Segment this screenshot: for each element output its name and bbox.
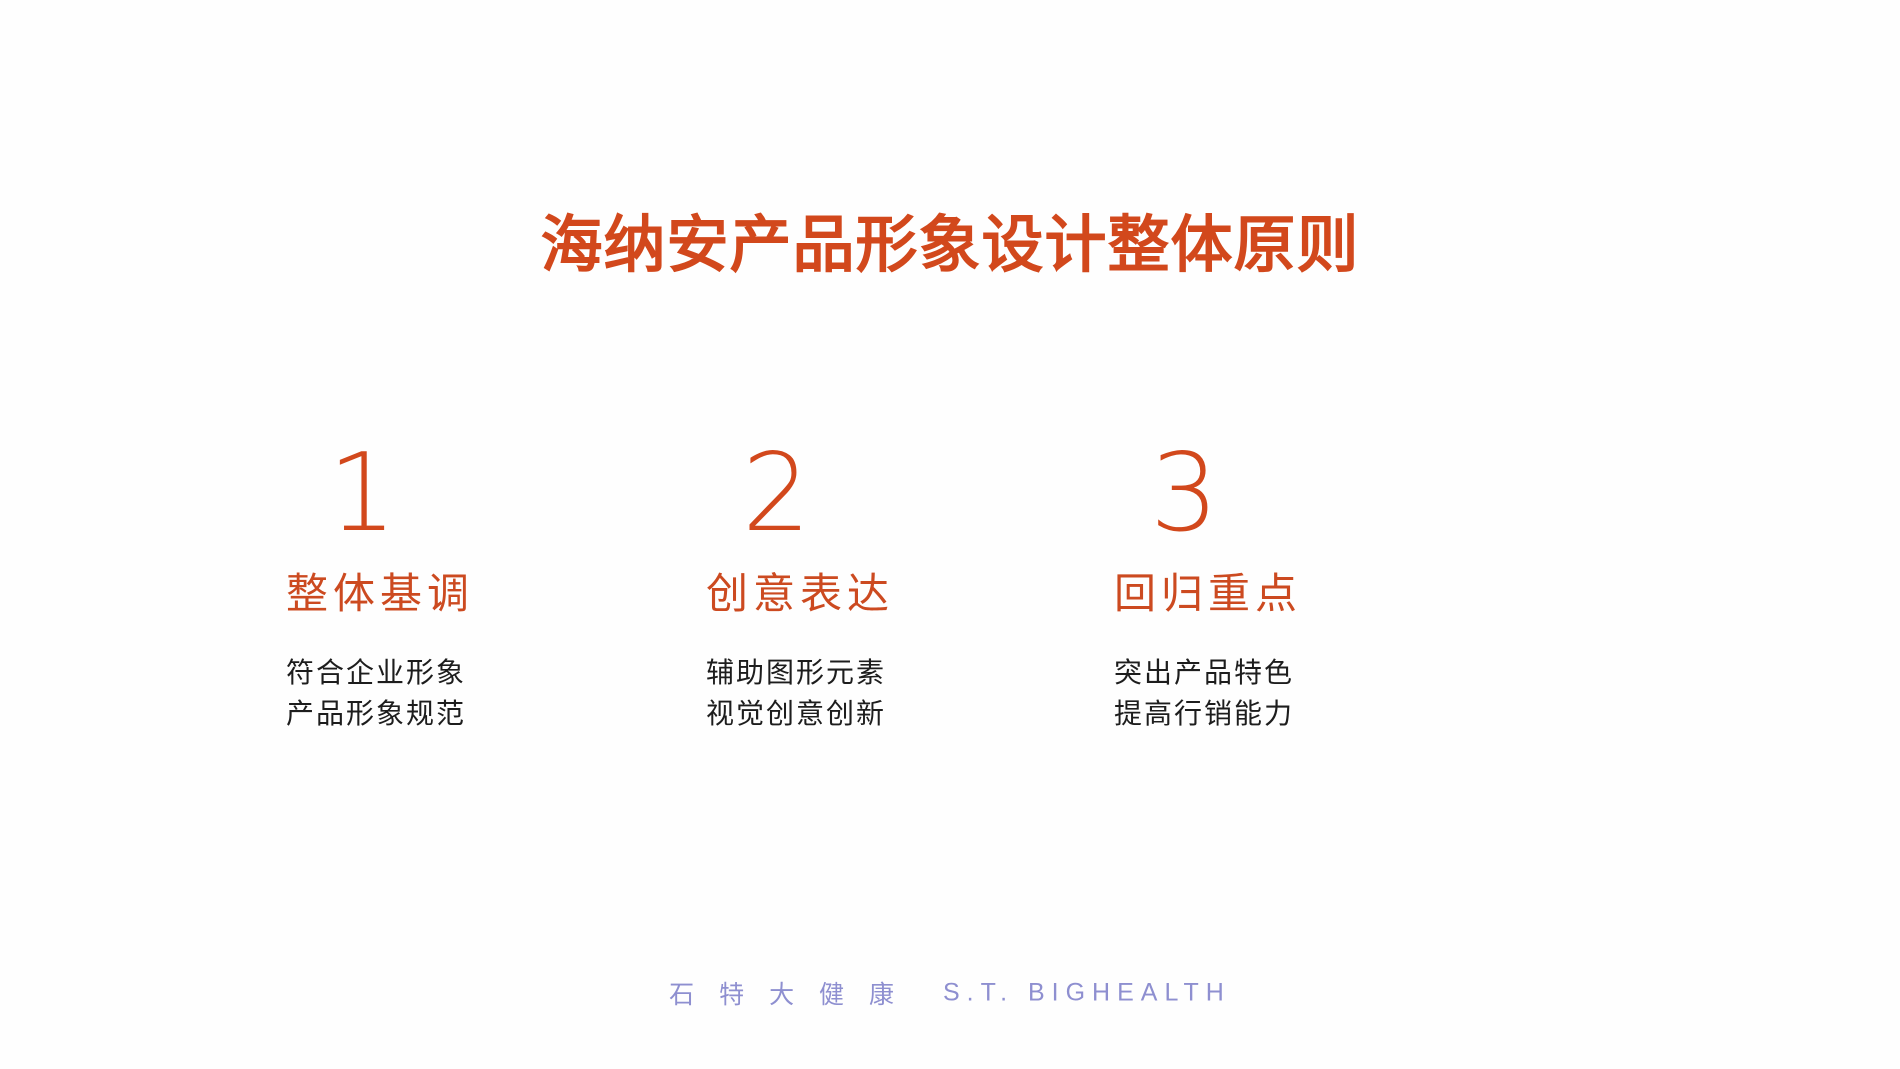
principle-number-2: 2 bbox=[742, 440, 894, 548]
principle-column-2: 2 创意表达 辅助图形元素 视觉创意创新 bbox=[660, 440, 1070, 736]
principle-number-1: 1 bbox=[328, 440, 474, 548]
principle-body-3-line-2: 提高行销能力 bbox=[1114, 695, 1302, 736]
footer-brand-english: S.T. BIGHEALTH bbox=[943, 979, 1231, 1007]
principle-column-2-inner: 2 创意表达 辅助图形元素 视觉创意创新 bbox=[660, 440, 894, 736]
principle-column-1: 1 整体基调 符合企业形象 产品形象规范 bbox=[250, 440, 660, 736]
footer-brand-chinese: 石 特 大 健 康 bbox=[669, 981, 903, 1009]
principle-column-3-inner: 3 回归重点 突出产品特色 提高行销能力 bbox=[1070, 440, 1302, 736]
principle-column-3: 3 回归重点 突出产品特色 提高行销能力 bbox=[1070, 440, 1480, 736]
principle-body-2-line-2: 视觉创意创新 bbox=[706, 695, 894, 736]
principle-body-3-line-1: 突出产品特色 bbox=[1114, 654, 1302, 695]
principle-body-1-line-2: 产品形象规范 bbox=[286, 695, 474, 736]
principle-heading-2: 创意表达 bbox=[706, 570, 894, 620]
slide-canvas: 海纳安产品形象设计整体原则 1 整体基调 符合企业形象 产品形象规范 2 创意表… bbox=[0, 0, 1900, 1069]
principle-body-1: 符合企业形象 产品形象规范 bbox=[286, 654, 474, 735]
footer-branding: 石 特 大 健 康 S.T. BIGHEALTH bbox=[0, 975, 1900, 1011]
page-title-container: 海纳安产品形象设计整体原则 bbox=[0, 212, 1900, 277]
principle-body-1-line-1: 符合企业形象 bbox=[286, 654, 474, 695]
principle-body-2-line-1: 辅助图形元素 bbox=[706, 654, 894, 695]
principle-column-1-inner: 1 整体基调 符合企业形象 产品形象规范 bbox=[250, 440, 474, 736]
principle-number-3: 3 bbox=[1150, 440, 1302, 548]
principle-heading-1: 整体基调 bbox=[286, 570, 474, 620]
principles-columns: 1 整体基调 符合企业形象 产品形象规范 2 创意表达 辅助图形元素 视觉创意创… bbox=[250, 440, 1480, 736]
page-title: 海纳安产品形象设计整体原则 bbox=[540, 212, 1359, 277]
principle-heading-3: 回归重点 bbox=[1114, 570, 1302, 620]
principle-body-3: 突出产品特色 提高行销能力 bbox=[1114, 654, 1302, 735]
principle-body-2: 辅助图形元素 视觉创意创新 bbox=[706, 654, 894, 735]
